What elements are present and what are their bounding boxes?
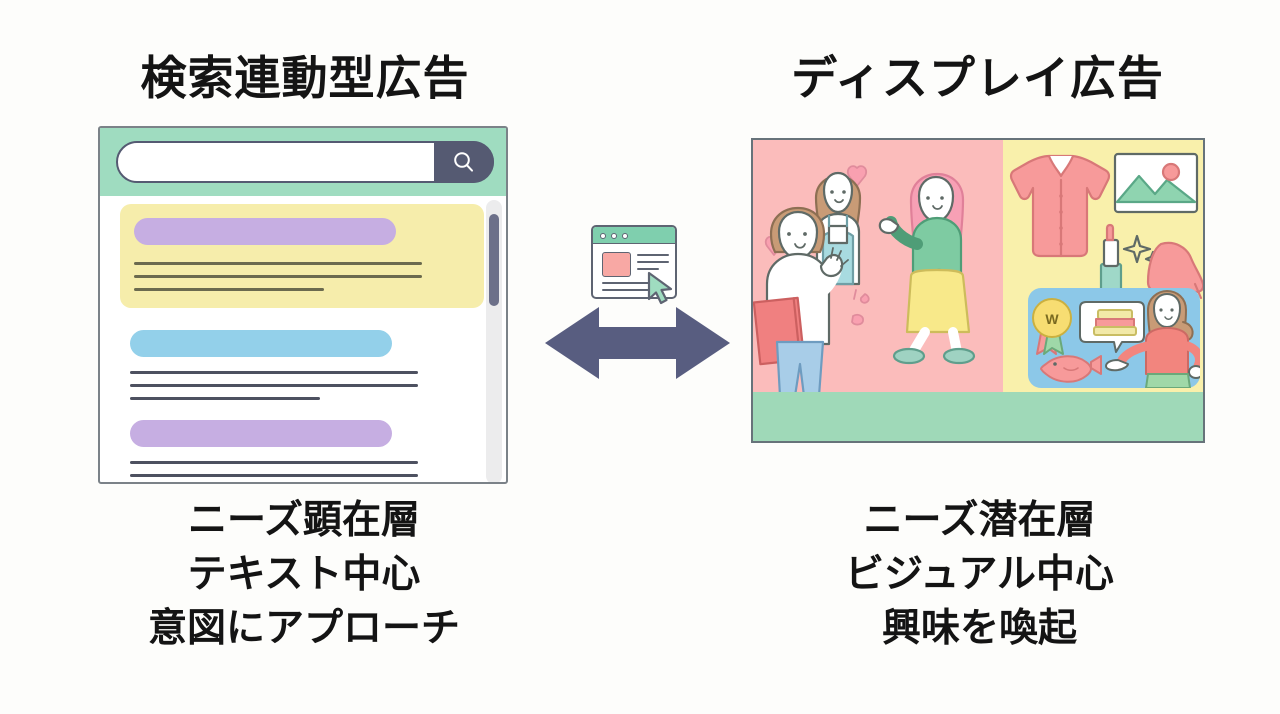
window-dot-icon <box>622 233 628 239</box>
infographic-canvas: 検索連動型広告 ディスプレイ広告 <box>0 0 1280 714</box>
left-caption-line-1: ニーズ顕在層 <box>98 494 510 548</box>
food-speech-bubble-icon <box>1080 302 1144 352</box>
display-ad-bottom-band <box>753 392 1203 441</box>
display-ad-people-panel <box>753 140 1003 396</box>
right-caption-list: ニーズ潜在層 ビジュアル中心 興味を喚起 <box>752 494 1207 655</box>
browser-titlebar <box>593 227 675 244</box>
display-ad-mockup: W <box>751 138 1205 443</box>
person-woman-sitting-icon <box>880 174 974 363</box>
search-result-organic[interactable] <box>120 326 484 412</box>
browser-text-line <box>637 268 659 270</box>
result-snippet-line <box>134 262 422 265</box>
left-caption-list: ニーズ顕在層 テキスト中心 意図にアプローチ <box>98 494 510 655</box>
browser-text-line <box>637 261 669 263</box>
result-snippet-line <box>130 384 418 387</box>
scrollbar-track[interactable] <box>486 200 502 484</box>
result-snippet-line <box>130 371 418 374</box>
right-caption-line-2: ビジュアル中心 <box>752 548 1207 602</box>
left-caption-line-2: テキスト中心 <box>98 548 510 602</box>
comparison-connector <box>545 225 730 400</box>
left-caption-line-3: 意図にアプローチ <box>98 602 510 656</box>
search-submit-button[interactable] <box>434 141 494 183</box>
result-snippet-line <box>130 461 418 464</box>
browser-text-line <box>637 254 669 256</box>
search-header-bar <box>100 128 506 196</box>
promo-illustration: W <box>1028 288 1200 388</box>
scrollbar-thumb[interactable] <box>489 214 499 306</box>
result-snippet-line <box>134 288 324 291</box>
sparkle-mark-icon <box>854 290 869 303</box>
award-ribbon-icon: W <box>1033 299 1071 354</box>
search-results-mockup <box>98 126 508 484</box>
double-headed-arrow-icon <box>545 301 730 385</box>
browser-image-placeholder <box>602 252 631 277</box>
result-snippet-line <box>130 397 320 400</box>
right-caption-line-3: 興味を喚起 <box>752 602 1207 656</box>
window-dot-icon <box>611 233 617 239</box>
right-caption-line-1: ニーズ潜在層 <box>752 494 1207 548</box>
lipstick-icon <box>1101 225 1121 290</box>
magnifier-icon <box>449 150 479 176</box>
search-input[interactable] <box>116 141 494 183</box>
result-title-pill <box>130 420 392 447</box>
window-dot-icon <box>600 233 606 239</box>
left-section-title: 検索連動型広告 <box>105 42 505 108</box>
result-title-pill <box>134 218 396 245</box>
fish-icon <box>1041 356 1101 382</box>
landscape-photo-icon <box>1115 154 1197 212</box>
sparkle-mark-icon <box>852 315 863 325</box>
shirt-icon <box>1011 156 1109 256</box>
result-snippet-line <box>134 275 422 278</box>
search-result-sponsored[interactable] <box>120 204 484 308</box>
right-section-title: ディスプレイ広告 <box>750 42 1205 108</box>
display-ad-promo-card: W <box>1028 288 1200 388</box>
result-snippet-line <box>130 474 418 477</box>
result-title-pill <box>130 330 392 357</box>
people-illustration <box>753 140 1003 396</box>
search-result-organic[interactable] <box>120 416 484 484</box>
award-badge-letter: W <box>1045 311 1059 327</box>
